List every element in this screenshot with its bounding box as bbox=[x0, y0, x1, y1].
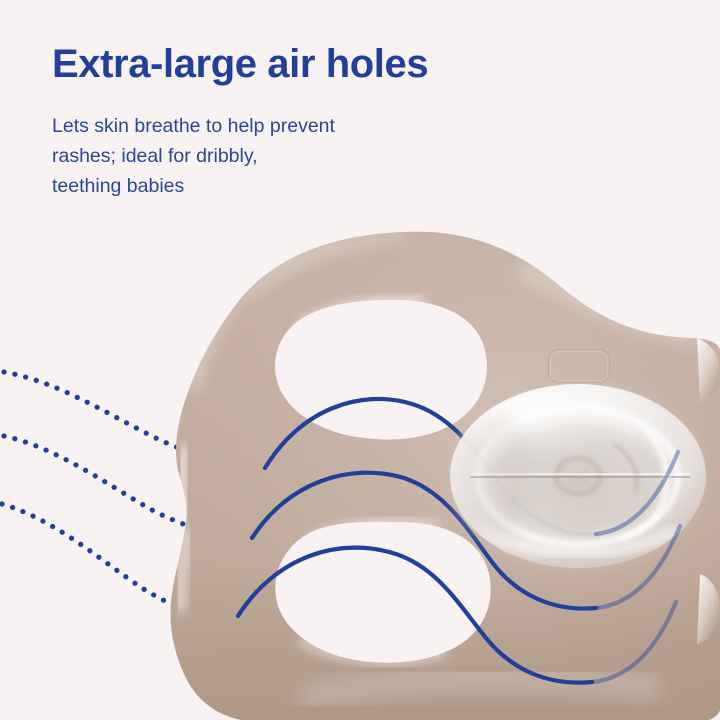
product-feature-card: Extra-large air holes Lets skin breathe … bbox=[0, 0, 720, 720]
body-copy: Lets skin breathe to help prevent rashes… bbox=[52, 87, 482, 202]
copy-block: Extra-large air holes Lets skin breathe … bbox=[52, 42, 482, 201]
silicone-nipple-dome bbox=[447, 381, 709, 571]
body-copy-line-1: Lets skin breathe to help prevent bbox=[52, 111, 482, 141]
page-title: Extra-large air holes bbox=[52, 42, 482, 87]
body-copy-line-3: teething babies bbox=[52, 171, 482, 201]
body-copy-line-2: rashes; ideal for dribbly, bbox=[52, 141, 482, 171]
